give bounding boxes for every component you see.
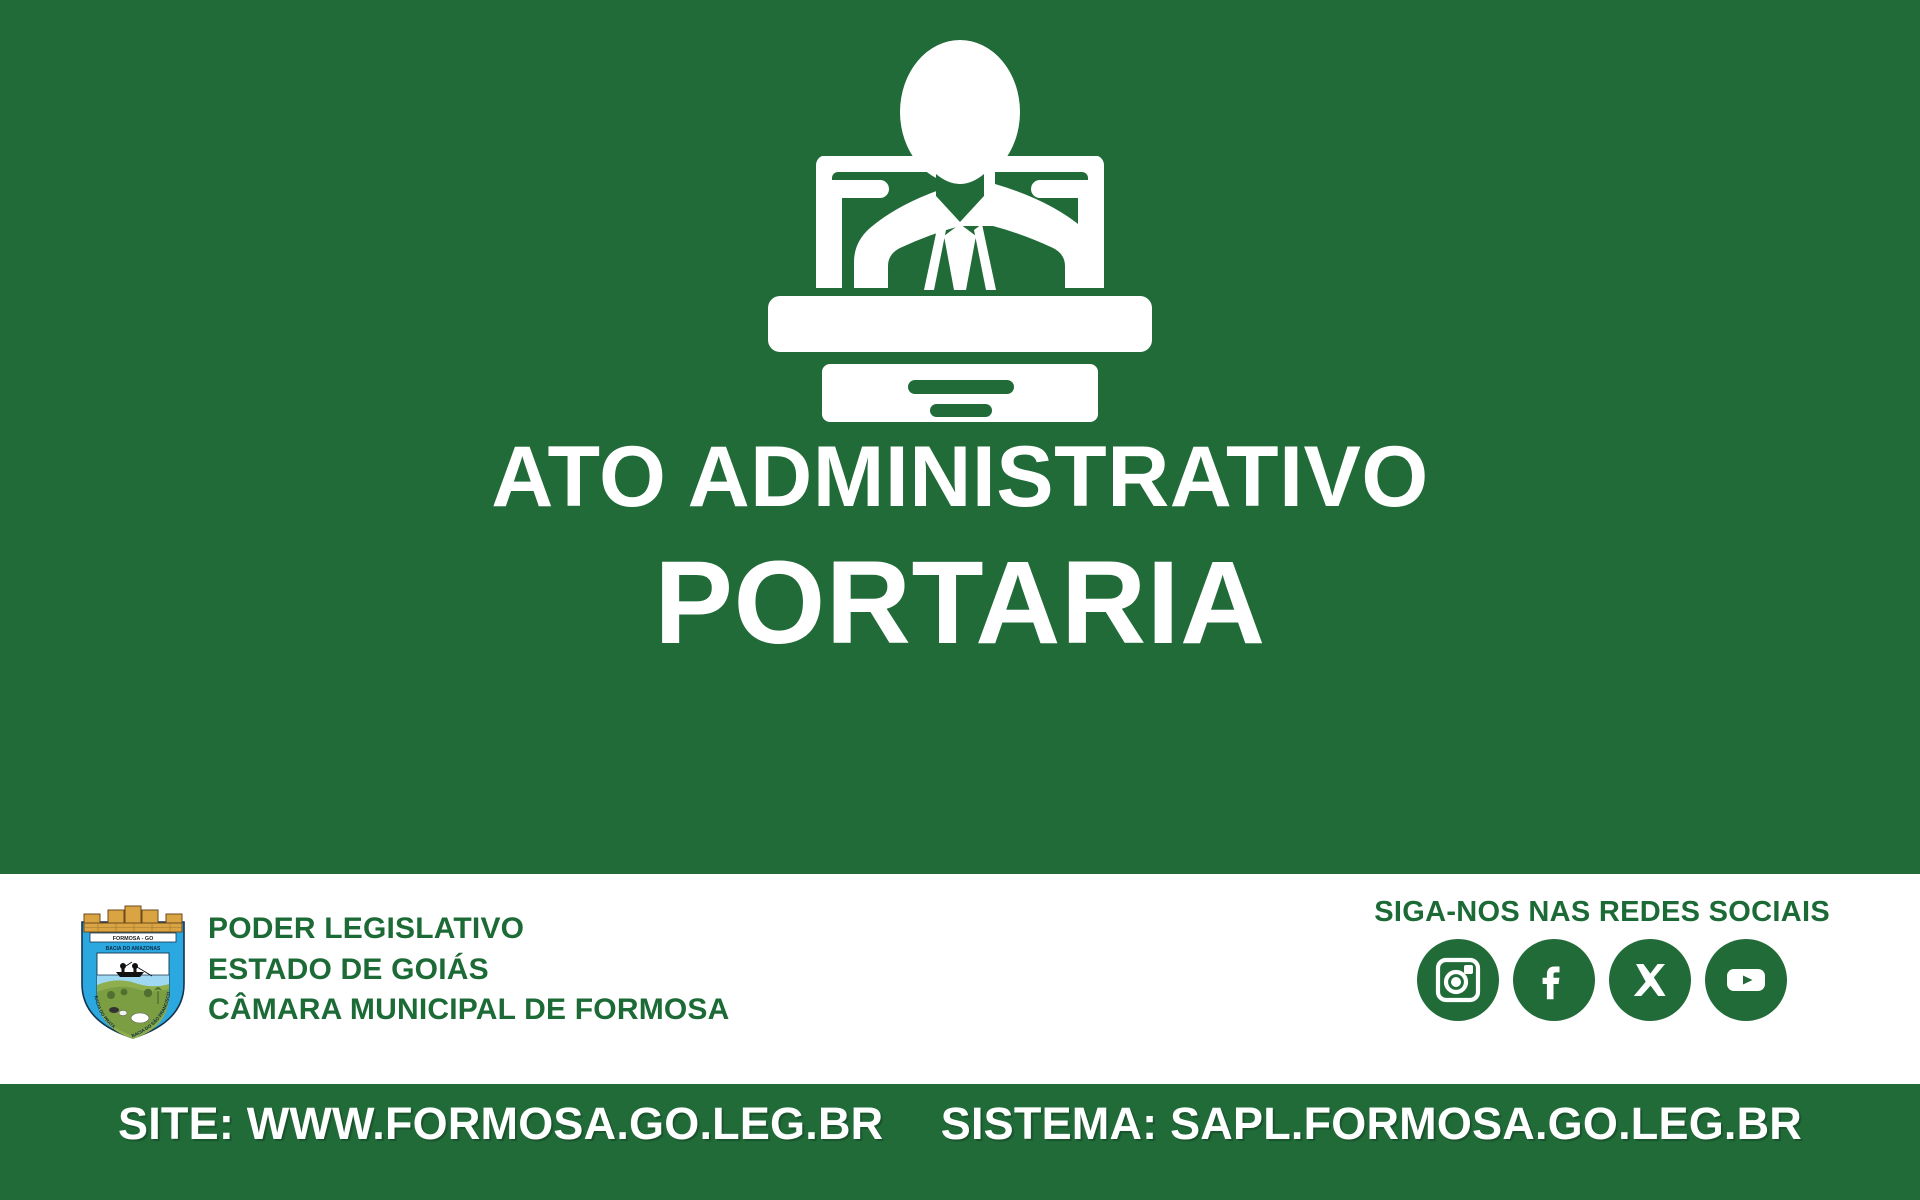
instagram-icon bbox=[1435, 957, 1481, 1003]
brand-text-block: PODER LEGISLATIVO ESTADO DE GOIÁS CÂMARA… bbox=[208, 911, 730, 1029]
facebook-link[interactable] bbox=[1513, 939, 1595, 1021]
youtube-icon bbox=[1723, 957, 1769, 1003]
poster-root: ATO ADMINISTRATIVO PORTARIA bbox=[0, 0, 1920, 1200]
crest-band-second: BACIA DO AMAZONAS bbox=[106, 946, 161, 952]
brand-block: FORMOSA - GO BACIA DO AMAZONAS bbox=[78, 900, 730, 1040]
brand-line-2: ESTADO DE GOIÁS bbox=[208, 952, 730, 989]
page-subtitle: PORTARIA bbox=[654, 544, 1265, 662]
x-twitter-link[interactable] bbox=[1609, 939, 1691, 1021]
youtube-link[interactable] bbox=[1705, 939, 1787, 1021]
social-label: SIGA-NOS NAS REDES SOCIAIS bbox=[1374, 896, 1830, 929]
footer-section: FORMOSA - GO BACIA DO AMAZONAS bbox=[0, 874, 1920, 1084]
crest-band-top: FORMOSA - GO bbox=[113, 936, 154, 942]
page-title: ATO ADMINISTRATIVO bbox=[491, 434, 1428, 520]
instagram-link[interactable] bbox=[1417, 939, 1499, 1021]
site-url[interactable]: SITE: WWW.FORMOSA.GO.LEG.BR bbox=[118, 1098, 883, 1150]
social-block: SIGA-NOS NAS REDES SOCIAIS bbox=[1374, 896, 1830, 1021]
speaker-at-podium-icon bbox=[760, 34, 1160, 424]
formosa-coat-of-arms: FORMOSA - GO BACIA DO AMAZONAS bbox=[78, 900, 188, 1040]
x-twitter-icon bbox=[1627, 957, 1673, 1003]
social-icon-row bbox=[1417, 939, 1787, 1021]
facebook-icon bbox=[1531, 957, 1577, 1003]
brand-line-1: PODER LEGISLATIVO bbox=[208, 911, 730, 948]
brand-line-3: CÂMARA MUNICIPAL DE FORMOSA bbox=[208, 992, 730, 1029]
system-url[interactable]: SISTEMA: SAPL.FORMOSA.GO.LEG.BR bbox=[941, 1098, 1802, 1150]
hero-section: ATO ADMINISTRATIVO PORTARIA bbox=[0, 0, 1920, 874]
bottom-bar: SITE: WWW.FORMOSA.GO.LEG.BR SISTEMA: SAP… bbox=[0, 1084, 1920, 1200]
